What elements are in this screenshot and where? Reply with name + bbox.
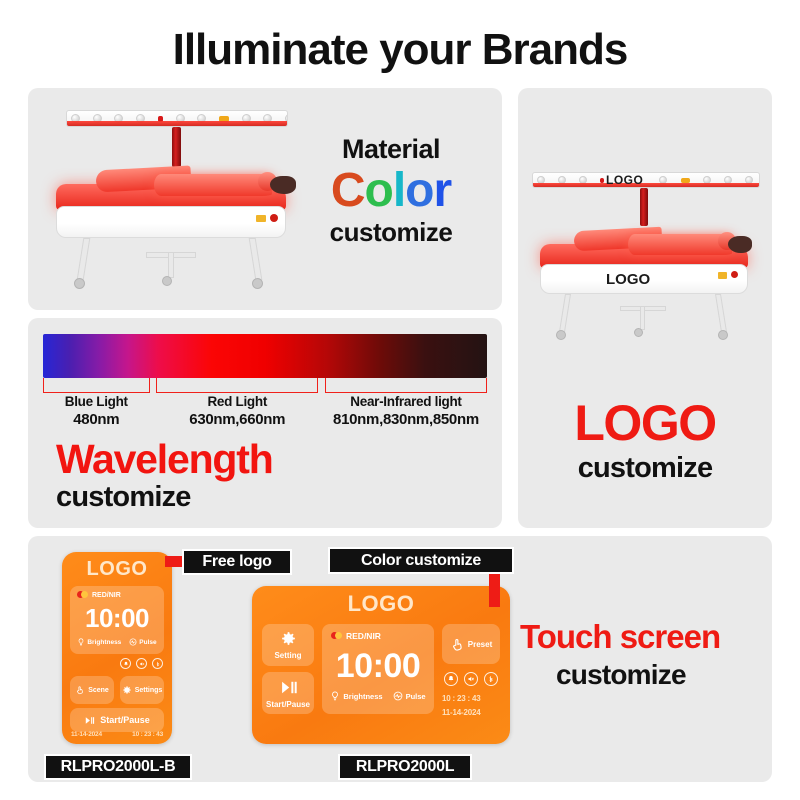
brightness-pulse-row: Brightness Pulse [77, 638, 156, 646]
bluetooth-icon[interactable] [152, 658, 163, 669]
badge-model-landscape: RLPRO2000L [338, 754, 472, 780]
logo-customize-panel: LOGO LOGO LOGO customize [518, 88, 772, 528]
support-post [172, 127, 181, 167]
play-pause-icon [84, 715, 95, 726]
wavelength-panel: Blue Light480nmRed Light630nm,660nmNear-… [28, 318, 502, 528]
screen-landscape-logo: LOGO [252, 591, 510, 617]
touch-heading: Touch screen [520, 620, 720, 655]
play-pause-icon [279, 678, 298, 697]
pulse-label: Pulse [406, 692, 426, 701]
screen-portrait-logo: LOGO [62, 558, 172, 581]
preset-button[interactable]: Preset [442, 624, 500, 664]
caster-left [74, 278, 85, 289]
brightness-control[interactable]: Brightness [330, 691, 382, 701]
touch-screen-landscape[interactable]: LOGO Setting Start/Pause RED/NIR 10:00 [252, 586, 510, 744]
legend-item-0: Blue Light480nm [43, 394, 150, 428]
overhead-panel-logo-text: LOGO [606, 173, 643, 187]
pulse-icon [129, 638, 137, 646]
touch-heading-block: Touch screen customize [520, 620, 720, 691]
color-word: Color [296, 165, 486, 217]
bed-leg-right-logo [715, 294, 727, 332]
screen-landscape-mini-icons [444, 672, 498, 686]
bed-leg-center-post [168, 252, 174, 278]
bed-leg-left-logo [559, 294, 571, 332]
start-pause-label: Start/Pause [266, 700, 310, 709]
mode-indicator: RED/NIR [331, 631, 381, 641]
person-hair [270, 176, 296, 194]
bell-icon[interactable] [444, 672, 458, 686]
spectrum-brackets [43, 378, 487, 393]
brightness-control[interactable]: Brightness [77, 638, 121, 646]
brightness-label: Brightness [87, 639, 121, 646]
footer-date: 11-14-2024 [442, 708, 481, 717]
timer-value: 10:00 [85, 603, 149, 634]
footer-time: 10 : 23 : 43 [442, 694, 481, 703]
scene-button[interactable]: Scene [70, 676, 114, 704]
gear-icon [122, 685, 132, 695]
wavelength-heading: Wavelength [56, 438, 273, 481]
legend-band-nm: 480nm [43, 411, 150, 428]
mode-dots [331, 631, 342, 641]
color-letter-o: o [405, 165, 433, 217]
person-hair-logo [728, 236, 752, 253]
bulb-icon [330, 691, 340, 701]
bracket-1 [156, 378, 318, 393]
legend-band-name: Near-Infrared light [325, 394, 487, 409]
overhead-led-panel-logo [532, 172, 760, 188]
gear-icon [280, 630, 297, 647]
settings-label: Settings [135, 687, 163, 694]
bluetooth-icon[interactable] [484, 672, 498, 686]
bracket-2 [325, 378, 487, 393]
mode-label: RED/NIR [92, 592, 121, 599]
wavelength-customize-label: customize [56, 481, 273, 514]
pulse-icon [393, 691, 403, 701]
bed-badge-amber [256, 215, 266, 222]
setting-label: Setting [274, 651, 301, 660]
start-pause-button[interactable]: Start/Pause [262, 672, 314, 714]
badge-free-logo: Free logo [182, 549, 292, 575]
bed-leg-right [249, 238, 263, 280]
legend-item-1: Red Light630nm,660nm [156, 394, 318, 428]
footer-time: 10 : 23 : 43 [132, 731, 163, 738]
speaker-icon[interactable] [136, 658, 147, 669]
badge-model-portrait: RLPRO2000L-B [44, 754, 192, 780]
bed-badge-amber-logo [718, 272, 727, 279]
timer-value: 10:00 [336, 647, 420, 686]
screen-portrait-mini-icons [120, 658, 163, 669]
mode-indicator: RED/NIR [77, 591, 121, 600]
start-pause-label: Start/Pause [100, 715, 150, 725]
legend-band-nm: 810nm,830nm,850nm [325, 411, 487, 428]
pulse-control[interactable]: Pulse [129, 638, 156, 646]
legend-band-nm: 630nm,660nm [156, 411, 318, 428]
screen-landscape-footer: 10 : 23 : 43 11-14-2024 [442, 694, 481, 717]
settings-button[interactable]: Settings [120, 676, 164, 704]
bed-leg-left [77, 238, 91, 280]
wavelength-heading-block: Wavelength customize [56, 438, 273, 514]
touch-screen-portrait[interactable]: LOGO RED/NIR 10:00 Brightness P [62, 552, 172, 744]
logo-heading-block: LOGO customize [518, 398, 772, 485]
pulse-control[interactable]: Pulse [393, 691, 426, 701]
product-bed-image-logo: LOGO LOGO [522, 166, 768, 348]
bed-leg-center-post-logo [640, 306, 645, 330]
touch-hand-icon [75, 685, 85, 695]
mode-dots [77, 591, 88, 600]
person-body [154, 174, 272, 196]
pulse-label: Pulse [139, 639, 156, 646]
bell-icon[interactable] [120, 658, 131, 669]
bulb-icon [77, 638, 85, 646]
scene-label: Scene [88, 687, 109, 694]
material-color-panel: Material Color customize [28, 88, 502, 310]
logo-heading: LOGO [518, 398, 772, 448]
legend-band-name: Blue Light [43, 394, 150, 409]
color-letter-r: r [433, 165, 451, 217]
bed-badge-red [270, 214, 278, 222]
mode-label: RED/NIR [346, 631, 381, 641]
badge-color-customize: Color customize [328, 547, 514, 574]
bed-base [56, 206, 286, 238]
legend-item-2: Near-Infrared light810nm,830nm,850nm [325, 394, 487, 428]
start-pause-button[interactable]: Start/Pause [70, 708, 164, 732]
footer-date: 11-14-2024 [71, 731, 102, 738]
caster-right-logo [718, 330, 728, 340]
color-letter-o: o [364, 165, 392, 217]
touch-customize-label: customize [556, 659, 720, 691]
bed-base-logo-text: LOGO [606, 271, 650, 288]
color-letter-C: C [331, 165, 365, 217]
caster-center-logo [634, 328, 643, 337]
caster-center [162, 276, 172, 286]
material-customize-label: customize [296, 217, 486, 248]
setting-button[interactable]: Setting [262, 624, 314, 666]
spectrum-gradient-bar [43, 334, 487, 378]
screen-portrait-footer: 11-14-2024 10 : 23 : 43 [71, 731, 163, 738]
brightness-pulse-row: Brightness Pulse [330, 691, 425, 701]
touch-hand-icon [450, 637, 465, 652]
legend-band-name: Red Light [156, 394, 318, 409]
bed-badge-red-logo [731, 271, 738, 278]
person-body-logo [628, 234, 732, 255]
brightness-label: Brightness [343, 692, 382, 701]
support-post-logo [640, 188, 648, 226]
speaker-icon[interactable] [464, 672, 478, 686]
caster-right [252, 278, 263, 289]
screen-landscape-main-tile[interactable]: RED/NIR 10:00 Brightness Pulse [322, 624, 434, 714]
overhead-led-panel [66, 110, 288, 127]
material-heading: Material [296, 134, 486, 165]
logo-customize-label: customize [518, 452, 772, 485]
color-letter-l: l [393, 165, 405, 217]
caster-left-logo [556, 330, 566, 340]
material-color-text-block: Material Color customize [296, 134, 486, 248]
screen-portrait-main-tile[interactable]: RED/NIR 10:00 Brightness Pulse [70, 586, 164, 654]
page-title: Illuminate your Brands [0, 0, 800, 82]
preset-label: Preset [468, 640, 492, 649]
product-bed-image-material [34, 102, 314, 302]
bracket-0 [43, 378, 150, 393]
